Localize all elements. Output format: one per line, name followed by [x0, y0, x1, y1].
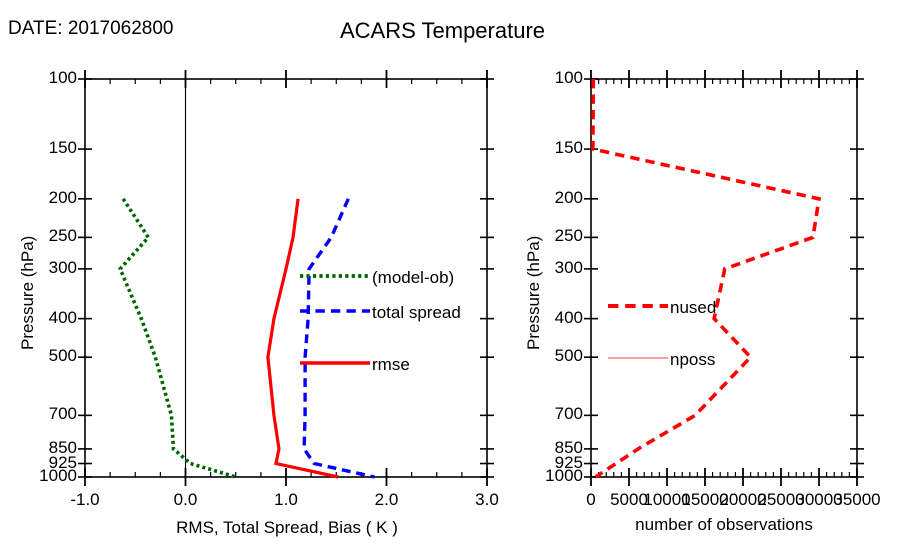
right-panel-ytick-700: 700: [527, 404, 583, 424]
right-panel-ytick-200: 200: [527, 188, 583, 208]
right-panel-ytick-100: 100: [527, 68, 583, 88]
chart-page: DATE: 2017062800 ACARS Temperature Press…: [0, 0, 900, 560]
right-panel-ytick-1000: 1000: [527, 466, 583, 486]
right-panel-x-axis-label: number of observations: [591, 515, 857, 535]
right-panel-ytick-500: 500: [527, 346, 583, 366]
left-panel-ytick-300: 300: [21, 258, 77, 278]
right-panel-ytick-400: 400: [527, 308, 583, 328]
right-panel-xtick-35000: 35000: [797, 490, 900, 510]
right-panel-ytick-150: 150: [527, 138, 583, 158]
left-panel-ytick-400: 400: [21, 308, 77, 328]
right-panel-plot: [0, 0, 900, 560]
legend-label-nused: nused: [670, 298, 716, 318]
left-panel-ytick-1000: 1000: [21, 466, 77, 486]
right-panel-ytick-300: 300: [527, 258, 583, 278]
right-panel-ytick-250: 250: [527, 226, 583, 246]
left-panel-ytick-200: 200: [21, 188, 77, 208]
left-panel-ytick-250: 250: [21, 226, 77, 246]
left-panel-xtick-3: 3.0: [427, 490, 547, 510]
legend-label-nposs: nposs: [670, 350, 715, 370]
left-panel-ytick-500: 500: [21, 346, 77, 366]
left-panel-ytick-150: 150: [21, 138, 77, 158]
left-panel-ytick-100: 100: [21, 68, 77, 88]
left-panel-ytick-700: 700: [21, 404, 77, 424]
